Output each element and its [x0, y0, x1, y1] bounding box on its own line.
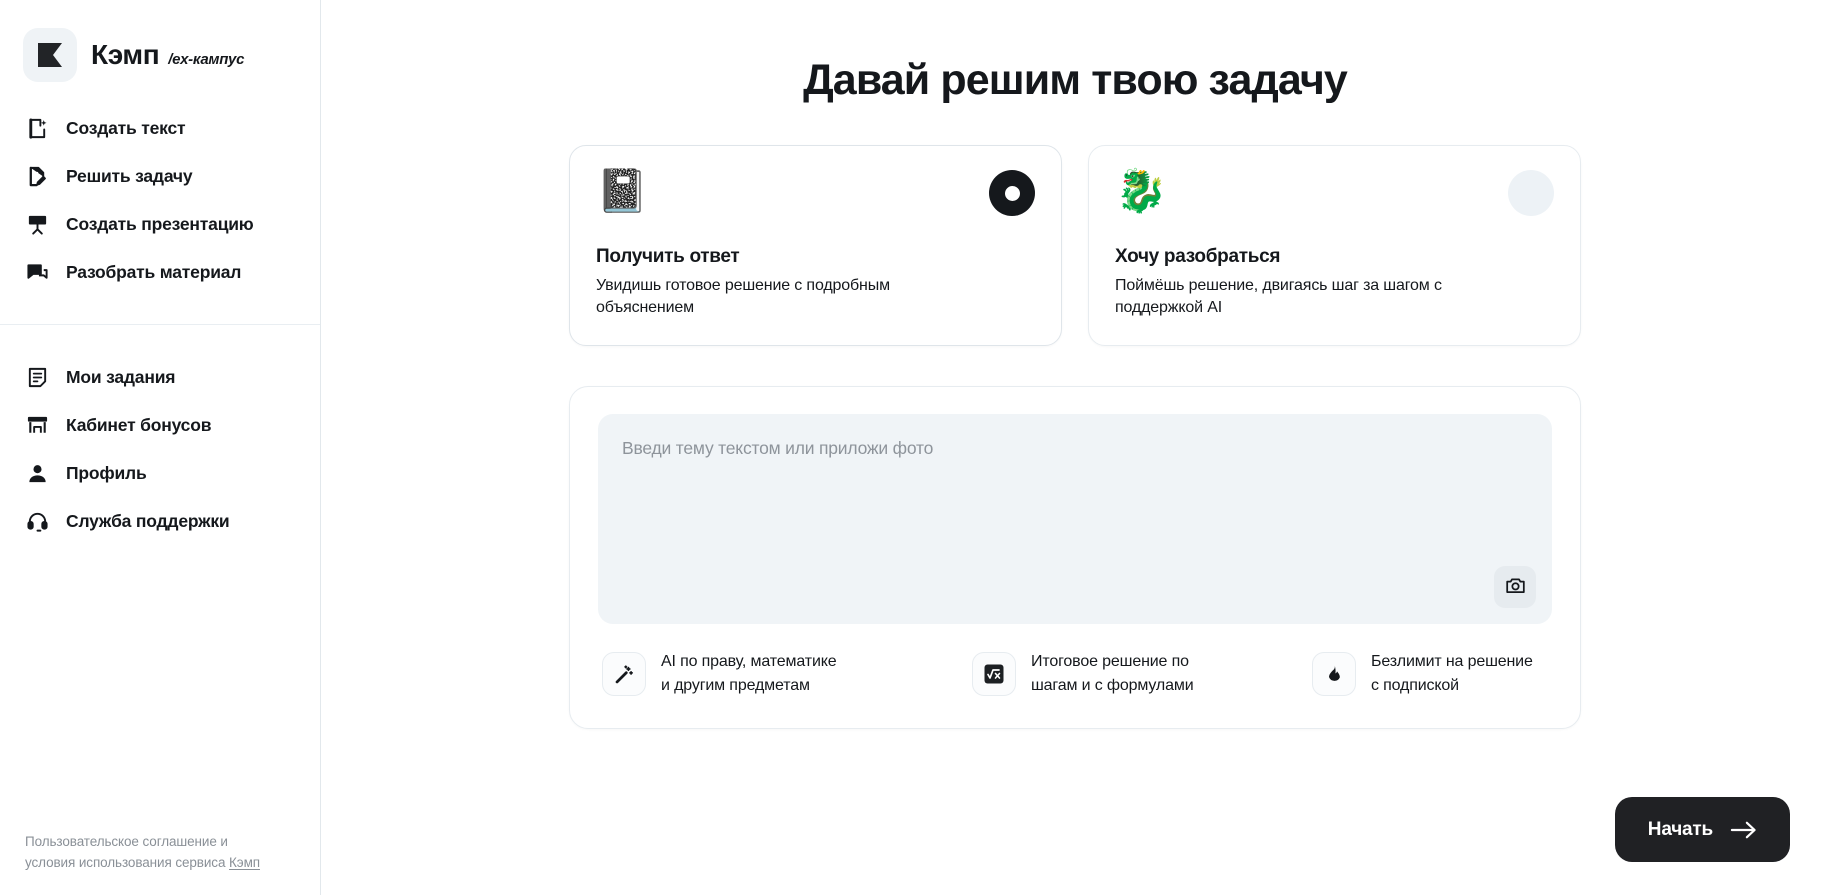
bonus-store-icon [24, 412, 50, 438]
mode-card-group: 📓 Получить ответ Увидишь готовое решение… [569, 145, 1581, 346]
camera-icon [1505, 575, 1526, 599]
terms-text: Пользовательское соглашение и условия ис… [25, 834, 229, 870]
dragon-on-books-icon: 🐉 [1115, 170, 1554, 226]
main-content: Давай решим твою задачу 📓 Получить ответ… [321, 0, 1829, 895]
feature-text: Итоговое решение по шагам и с формулами [1031, 650, 1194, 698]
mode-card-title: Получить ответ [596, 246, 1035, 268]
sidebar-item-create-text[interactable]: Создать текст [0, 104, 320, 152]
camp-flag-logo-icon [23, 28, 77, 82]
presentation-icon [24, 211, 50, 237]
solve-task-icon [24, 163, 50, 189]
feature-item: AI по праву, математике и другим предмет… [602, 650, 932, 698]
sidebar-item-profile[interactable]: Профиль [0, 449, 320, 497]
sidebar-item-review-material[interactable]: Разобрать материал [0, 248, 320, 296]
feature-text: Безлимит на решение с подпиской [1371, 650, 1533, 698]
sqrt-formula-icon [972, 652, 1016, 696]
create-text-icon [24, 115, 50, 141]
mode-card-step-by-step[interactable]: 🐉 Хочу разобраться Поймёшь решение, двиг… [1088, 145, 1581, 346]
sidebar-item-label: Разобрать материал [66, 262, 241, 283]
feature-item: Итоговое решение по шагам и с формулами [972, 650, 1272, 698]
sidebar-item-create-presentation[interactable]: Создать презентацию [0, 200, 320, 248]
sidebar-item-support[interactable]: Служба поддержки [0, 497, 320, 545]
task-input-wrapper [598, 414, 1552, 624]
feature-line-2: с подпиской [1371, 677, 1459, 694]
feature-item: Безлимит на решение с подпиской [1312, 650, 1533, 698]
feature-line-1: Итоговое решение по [1031, 653, 1189, 670]
page-title: Давай решим твою задачу [321, 56, 1829, 105]
input-panel: AI по праву, математике и другим предмет… [569, 386, 1581, 729]
start-button-label: Начать [1648, 819, 1713, 841]
feature-line-2: шагам и с формулами [1031, 677, 1194, 694]
sidebar-primary-nav: Создать текст Решить задачу [0, 88, 320, 325]
sidebar-item-label: Решить задачу [66, 166, 192, 187]
mode-card-title: Хочу разобраться [1115, 246, 1554, 268]
sidebar-footer: Пользовательское соглашение и условия ис… [25, 831, 275, 873]
mode-card-description: Поймёшь решение, двигаясь шаг за шагом с… [1115, 275, 1465, 319]
mode-card-get-answer[interactable]: 📓 Получить ответ Увидишь готовое решение… [569, 145, 1062, 346]
content-wrapper: 📓 Получить ответ Увидишь готовое решение… [569, 105, 1581, 729]
notebook-calculator-icon: 📓 [596, 170, 1035, 226]
mode-radio-unselected[interactable] [1508, 170, 1554, 216]
task-input[interactable] [622, 436, 1528, 602]
feature-text: AI по праву, математике и другим предмет… [661, 650, 837, 698]
chat-material-icon [24, 259, 50, 285]
sidebar-item-my-tasks[interactable]: Мои задания [0, 353, 320, 401]
attach-photo-button[interactable] [1494, 566, 1536, 608]
mode-card-description: Увидишь готовое решение с подробным объя… [596, 275, 946, 319]
app-root: Кэмп /ex-кампус Создать текст [0, 0, 1829, 895]
sidebar-item-label: Мои задания [66, 367, 175, 388]
my-tasks-icon [24, 364, 50, 390]
start-button[interactable]: Начать [1615, 797, 1790, 862]
brand-logo[interactable]: Кэмп /ex-кампус [0, 0, 320, 88]
headset-support-icon [24, 508, 50, 534]
feature-list: AI по праву, математике и другим предмет… [598, 650, 1552, 698]
sidebar-item-label: Профиль [66, 463, 147, 484]
sidebar-item-label: Кабинет бонусов [66, 415, 211, 436]
profile-person-icon [24, 460, 50, 486]
sidebar-item-solve-task[interactable]: Решить задачу [0, 152, 320, 200]
sidebar: Кэмп /ex-кампус Создать текст [0, 0, 321, 895]
arrow-right-icon [1730, 820, 1757, 840]
feature-line-1: Безлимит на решение [1371, 653, 1533, 670]
sidebar-item-label: Служба поддержки [66, 511, 229, 532]
terms-link[interactable]: Кэмп [229, 855, 260, 870]
sidebar-item-bonus-account[interactable]: Кабинет бонусов [0, 401, 320, 449]
brand-tagline: /ex-кампус [168, 52, 244, 67]
brand-name: Кэмп [91, 41, 159, 69]
feature-line-2: и другим предметам [661, 677, 810, 694]
sidebar-secondary-nav: Мои задания Кабинет бонусов [0, 325, 320, 559]
magic-wand-icon [602, 652, 646, 696]
sidebar-item-label: Создать презентацию [66, 214, 254, 235]
feature-line-1: AI по праву, математике [661, 653, 837, 670]
mode-radio-selected[interactable] [989, 170, 1035, 216]
sidebar-item-label: Создать текст [66, 118, 185, 139]
flame-icon [1312, 652, 1356, 696]
